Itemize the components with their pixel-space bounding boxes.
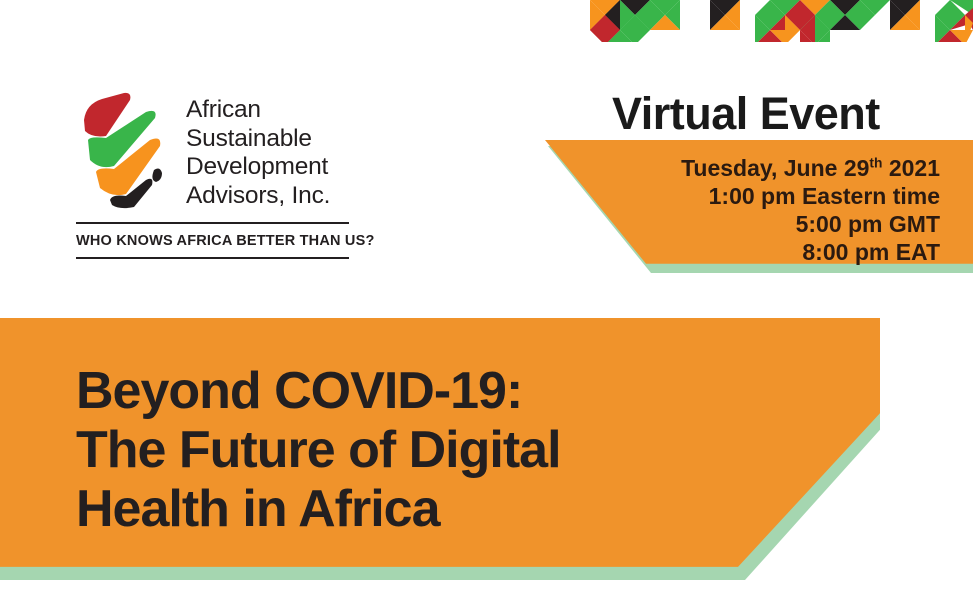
event-time-gmt: 5:00 pm GMT <box>681 210 940 238</box>
logo-wordmark: African Sustainable Development Advisors… <box>186 86 330 210</box>
title-line-3: Health in Africa <box>76 480 561 539</box>
title-line-2: The Future of Digital <box>76 421 561 480</box>
event-date-suffix: 2021 <box>882 155 940 181</box>
logo-line-3: Development <box>186 153 330 182</box>
title-line-1: Beyond COVID-19: <box>76 362 561 421</box>
event-time-eat: 8:00 pm EAT <box>681 238 940 266</box>
event-title-text: Beyond COVID-19: The Future of Digital H… <box>76 362 561 539</box>
logo-line-1: African <box>186 96 330 125</box>
event-date-prefix: Tuesday, June 29 <box>681 155 869 181</box>
tagline-block: WHO KNOWS AFRICA BETTER THAN US? <box>76 222 349 259</box>
virtual-event-heading: Virtual Event <box>612 88 880 140</box>
tagline-rule-bottom <box>76 257 349 259</box>
company-logo-block: African Sustainable Development Advisors… <box>76 86 366 259</box>
event-date-ordinal: th <box>869 155 882 170</box>
triangle-mosaic-svg <box>560 0 973 42</box>
africa-map-logo-icon <box>76 90 176 212</box>
tagline-text: WHO KNOWS AFRICA BETTER THAN US? <box>76 224 349 257</box>
event-date-line: Tuesday, June 29th 2021 <box>681 154 940 182</box>
event-datetime-text: Tuesday, June 29th 2021 1:00 pm Eastern … <box>681 154 940 266</box>
top-decorative-pattern <box>560 0 973 42</box>
event-title-banner: Beyond COVID-19: The Future of Digital H… <box>0 318 880 580</box>
logo-line-4: Advisors, Inc. <box>186 182 330 211</box>
event-datetime-banner: Tuesday, June 29th 2021 1:00 pm Eastern … <box>540 140 973 273</box>
event-time-eastern: 1:00 pm Eastern time <box>681 182 940 210</box>
logo-line-2: Sustainable <box>186 125 330 154</box>
logo-row: African Sustainable Development Advisors… <box>76 86 366 212</box>
